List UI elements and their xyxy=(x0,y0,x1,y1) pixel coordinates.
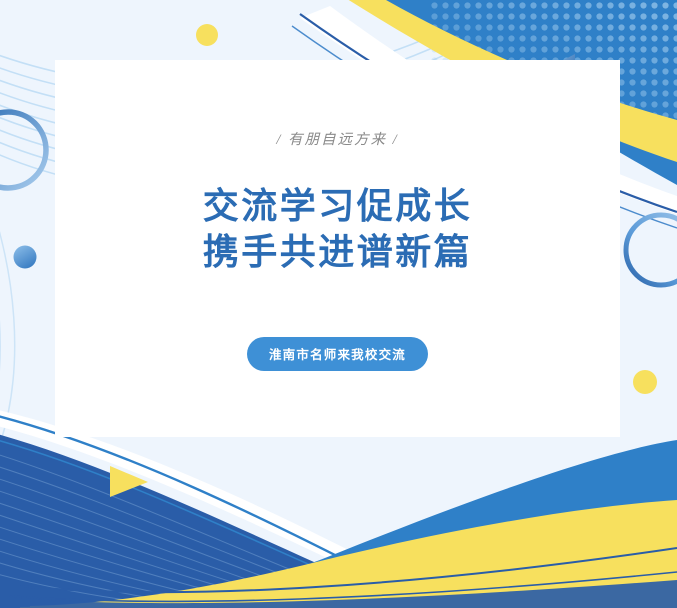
yellow-dot-right xyxy=(633,370,657,394)
content-stack: / 有朋自远方来 / 交流学习促成长 携手共进谱新篇 淮南市名师来我校交流 xyxy=(55,60,620,437)
page-title: 交流学习促成长 携手共进谱新篇 xyxy=(203,183,473,275)
yellow-dot-top xyxy=(196,24,218,46)
status-badge: 淮南市名师来我校交流 xyxy=(247,337,428,371)
title-line-2: 携手共进谱新篇 xyxy=(203,229,473,275)
title-line-1: 交流学习促成长 xyxy=(203,183,473,229)
eyebrow-text: / 有朋自远方来 / xyxy=(276,128,398,149)
sphere-left xyxy=(14,246,37,269)
poster-canvas: / 有朋自远方来 / 交流学习促成长 携手共进谱新篇 淮南市名师来我校交流 xyxy=(0,0,677,608)
